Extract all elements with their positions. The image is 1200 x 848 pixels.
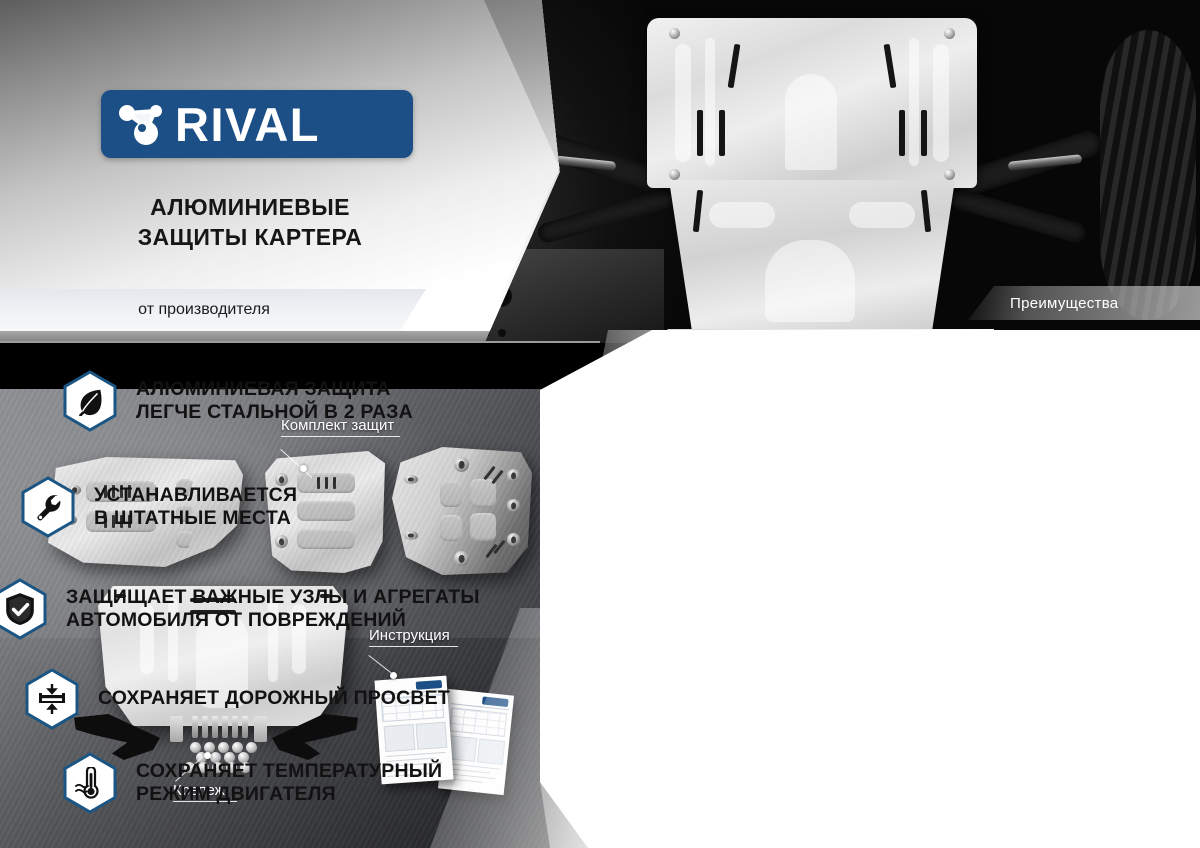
thermometer-icon xyxy=(62,752,118,814)
advantages-tab: Преимущества xyxy=(968,286,1200,320)
page-title: АЛЮМИНИЕВЫЕ ЗАЩИТЫ КАРТЕРА xyxy=(0,192,500,253)
leaf-icon xyxy=(62,370,118,432)
wrench-icon xyxy=(20,476,76,538)
advantage-item-clearance: СОХРАНЯЕТ ДОРОЖНЫЙ ПРОСВЕТ xyxy=(24,668,450,730)
brand-logo: RIVAL xyxy=(101,90,413,158)
tyre-right xyxy=(1100,30,1196,320)
skid-plate-upper xyxy=(647,18,977,188)
advantage-label: УСТАНАВЛИВАЕТСЯ В ШТАТНЫЕ МЕСТА xyxy=(94,484,297,531)
advantages-tab-label: Преимущества xyxy=(1010,295,1118,312)
page-title-line2: ЗАЩИТЫ КАРТЕРА xyxy=(0,222,500,252)
advantage-item-weight: АЛЮМИНИЕВАЯ ЗАЩИТА ЛЕГЧЕ СТАЛЬНОЙ В 2 РА… xyxy=(62,370,413,432)
advantage-label: ЗАЩИЩАЕТ ВАЖНЫЕ УЗЛЫ И АГРЕГАТЫ АВТОМОБИ… xyxy=(66,586,480,633)
advantage-label: СОХРАНЯЕТ ТЕМПЕРАТУРНЫЙ РЕЖИМ ДВИГАТЕЛЯ xyxy=(136,760,442,807)
advantage-item-temperature: СОХРАНЯЕТ ТЕМПЕРАТУРНЫЙ РЕЖИМ ДВИГАТЕЛЯ xyxy=(62,752,442,814)
advantage-label: СОХРАНЯЕТ ДОРОЖНЫЙ ПРОСВЕТ xyxy=(98,687,450,710)
advantage-item-fitment: УСТАНАВЛИВАЕТСЯ В ШТАТНЫЕ МЕСТА xyxy=(20,476,297,538)
subtitle-text: от производителя xyxy=(138,301,288,319)
page-title-line1: АЛЮМИНИЕВЫЕ xyxy=(0,192,500,222)
molecule-icon xyxy=(115,100,169,148)
ground-clearance-icon xyxy=(24,668,80,730)
advantages-list: АЛЮМИНИЕВАЯ ЗАЩИТА ЛЕГЧЕ СТАЛЬНОЙ В 2 РА… xyxy=(0,330,660,848)
aluminium-skid-plate xyxy=(647,18,977,338)
skid-plate-lower xyxy=(669,180,955,338)
brand-name: RIVAL xyxy=(175,101,320,148)
shield-check-icon xyxy=(0,578,48,640)
advantage-item-protection: ЗАЩИЩАЕТ ВАЖНЫЕ УЗЛЫ И АГРЕГАТЫ АВТОМОБИ… xyxy=(0,578,480,640)
advantage-label: АЛЮМИНИЕВАЯ ЗАЩИТА ЛЕГЧЕ СТАЛЬНОЙ В 2 РА… xyxy=(136,378,413,425)
subtitle-bar: от производителя xyxy=(0,289,426,331)
promo-banner: RIVAL АЛЮМИНИЕВЫЕ ЗАЩИТЫ КАРТЕРА от прои… xyxy=(0,0,1200,848)
